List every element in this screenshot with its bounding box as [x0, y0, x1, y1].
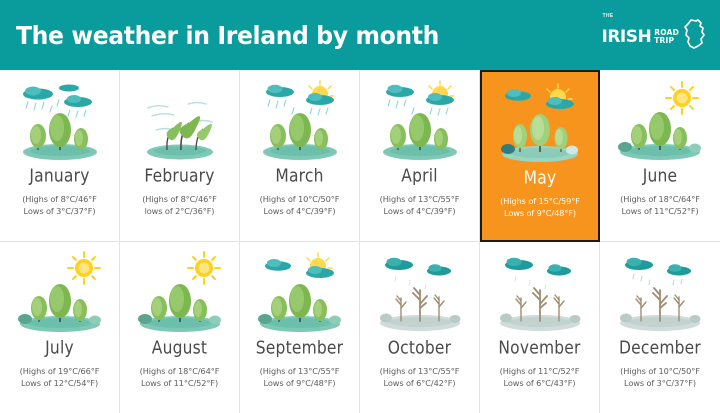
- lows-line: Lows of 4°C/39°F): [380, 205, 460, 217]
- highs-line: (Highs of 19°C/66°F: [20, 365, 100, 377]
- sun-behind-cloud-icon: [265, 253, 334, 278]
- lows-line: Lows of 3°C/37°F): [620, 377, 700, 389]
- lows-line: Lows of 3°C/37°F): [22, 205, 97, 217]
- month-cell-july[interactable]: July (Highs of 19°C/66°F Lows of 12°C/54…: [0, 242, 120, 413]
- lows-line: Lows of 12°C/54°F): [20, 377, 100, 389]
- weather-scene-windy-green-trees: [126, 78, 234, 164]
- month-label: January: [29, 166, 89, 186]
- ground-and-trees: [383, 113, 457, 160]
- weather-infographic: The weather in Ireland by month THE IRIS…: [0, 0, 720, 413]
- weather-scene-sunny-green-trees: [6, 250, 114, 336]
- highs-line: (Highs of 18°C/64°F: [620, 193, 700, 205]
- weather-scene-rainy-green-trees: [6, 78, 114, 164]
- temperature-text: (Highs of 18°C/64°F Lows of 11°C/52°F): [140, 365, 220, 389]
- weather-scene-cloudy-bare-trees-rain: [606, 250, 714, 336]
- ground-and-bare-trees: [500, 288, 581, 331]
- month-cell-february[interactable]: February (Highs of 8°C/46°F lows of 2°C/…: [120, 70, 240, 242]
- temperature-text: (Highs of 18°C/64°F Lows of 11°C/52°F): [620, 193, 700, 217]
- month-label: September: [256, 338, 343, 358]
- sun-behind-rain-cloud-icon: [266, 81, 334, 115]
- temperature-text: (Highs of 11°C/52°F Lows of 6°C/43°F): [500, 365, 580, 389]
- sun-icon: [68, 252, 100, 284]
- ground-and-bare-trees: [620, 288, 701, 331]
- month-label: July: [45, 338, 74, 358]
- months-grid: January (Highs of 8°C/46°F Lows of 3°C/3…: [0, 70, 720, 413]
- ground-and-trees: [138, 284, 221, 332]
- weather-scene-cloudy-bare-trees: [486, 250, 594, 336]
- highs-line: (Highs of 10°C/50°F: [620, 365, 700, 377]
- month-label: November: [498, 338, 580, 358]
- temperature-text: (Highs of 13°C/55°F Lows of 6°C/42°F): [380, 365, 460, 389]
- weather-scene-sunny-green-trees: [126, 250, 234, 336]
- highs-line: (Highs of 13°C/55°F: [260, 365, 340, 377]
- highs-line: (Highs of 10°C/50°F: [260, 193, 340, 205]
- weather-scene-partly-cloudy-green-trees: [486, 80, 594, 166]
- highs-line: (Highs of 18°C/64°F: [140, 365, 220, 377]
- logo-trip-text: TRIP: [654, 37, 679, 45]
- ground-and-trees: [18, 284, 101, 332]
- ground-and-bent-trees: [147, 116, 213, 159]
- lows-line: Lows of 6°C/42°F): [380, 377, 460, 389]
- month-label: March: [275, 166, 323, 186]
- sun-icon: [188, 252, 220, 284]
- ground-and-trees: [263, 113, 337, 160]
- month-cell-december[interactable]: December (Highs of 10°C/50°F Lows of 3°C…: [600, 242, 720, 413]
- temperature-text: (Highs of 8°C/46°F lows of 2°C/36°F): [142, 193, 217, 217]
- weather-scene-cloudy-bare-trees: [366, 250, 474, 336]
- ireland-map-icon: [684, 19, 706, 54]
- page-title: The weather in Ireland by month: [16, 21, 439, 50]
- lows-line: Lows of 11°C/52°F): [140, 377, 220, 389]
- temperature-text: (Highs of 13°C/55°F Lows of 9°C/48°F): [260, 365, 340, 389]
- month-label: October: [388, 338, 451, 358]
- highs-line: (Highs of 11°C/52°F: [500, 365, 580, 377]
- temperature-text: (Highs of 13°C/55°F Lows of 4°C/39°F): [380, 193, 460, 217]
- irish-road-trip-logo[interactable]: THE IRISH ROAD TRIP: [602, 15, 707, 56]
- lows-line: Lows of 4°C/39°F): [260, 205, 340, 217]
- highs-line: (Highs of 8°C/46°F: [22, 193, 97, 205]
- ground-and-trees: [258, 284, 341, 332]
- weather-scene-partly-cloudy-green-trees: [246, 250, 354, 336]
- month-cell-april[interactable]: April (Highs of 13°C/55°F Lows of 4°C/39…: [360, 70, 480, 242]
- logo-the-text: THE: [603, 13, 614, 19]
- lows-line: Lows of 9°C/48°F): [260, 377, 340, 389]
- month-cell-november[interactable]: November (Highs of 11°C/52°F Lows of 6°C…: [480, 242, 600, 413]
- ground-and-trees: [23, 113, 97, 160]
- logo-irish-text: IRISH: [602, 29, 652, 46]
- clouds-icon: [505, 257, 571, 288]
- month-label: December: [619, 338, 701, 358]
- lows-line: Lows of 9°C/48°F): [500, 207, 580, 219]
- month-cell-october[interactable]: October (Highs of 13°C/55°F Lows of 6°C/…: [360, 242, 480, 413]
- month-cell-september[interactable]: September (Highs of 13°C/55°F Lows of 9°…: [240, 242, 360, 413]
- month-cell-january[interactable]: January (Highs of 8°C/46°F Lows of 3°C/3…: [0, 70, 120, 242]
- month-label: August: [152, 338, 207, 358]
- lows-line: lows of 2°C/36°F): [142, 205, 217, 217]
- weather-scene-rain-and-sun-green-trees: [246, 78, 354, 164]
- highs-line: (Highs of 13°C/55°F: [380, 365, 460, 377]
- ground-and-trees: [618, 112, 701, 160]
- temperature-text: (Highs of 10°C/50°F Lows of 4°C/39°F): [260, 193, 340, 217]
- month-label: May: [524, 168, 557, 188]
- month-cell-may[interactable]: May (Highs of 15°C/59°F Lows of 9°C/48°F…: [480, 70, 600, 242]
- ground-and-trees: [501, 114, 578, 162]
- ground-and-bare-trees: [380, 288, 461, 331]
- month-cell-june[interactable]: June (Highs of 18°C/64°F Lows of 11°C/52…: [600, 70, 720, 242]
- weather-scene-rain-and-sun-green-trees: [366, 78, 474, 164]
- highs-line: (Highs of 15°C/59°F: [500, 195, 580, 207]
- month-label: April: [401, 166, 437, 186]
- lows-line: Lows of 6°C/43°F): [500, 377, 580, 389]
- temperature-text: (Highs of 19°C/66°F Lows of 12°C/54°F): [20, 365, 100, 389]
- temperature-text: (Highs of 10°C/50°F Lows of 3°C/37°F): [620, 365, 700, 389]
- header-bar: The weather in Ireland by month THE IRIS…: [0, 0, 720, 70]
- logo-roadtrip-stack: ROAD TRIP: [654, 29, 679, 46]
- sun-icon: [666, 82, 698, 114]
- month-label: June: [643, 166, 678, 186]
- temperature-text: (Highs of 15°C/59°F Lows of 9°C/48°F): [500, 195, 580, 219]
- rain-clouds-icon: [625, 257, 691, 284]
- highs-line: (Highs of 8°C/46°F: [142, 193, 217, 205]
- month-cell-august[interactable]: August (Highs of 18°C/64°F Lows of 11°C/…: [120, 242, 240, 413]
- month-cell-march[interactable]: March (Highs of 10°C/50°F Lows of 4°C/39…: [240, 70, 360, 242]
- sun-behind-cloud-icon: [505, 84, 574, 109]
- lows-line: Lows of 11°C/52°F): [620, 205, 700, 217]
- clouds-icon: [385, 257, 451, 288]
- sun-behind-rain-cloud-icon: [386, 81, 454, 115]
- highs-line: (Highs of 13°C/55°F: [380, 193, 460, 205]
- weather-scene-sunny-green-trees: [606, 78, 714, 164]
- rain-clouds-icon: [23, 85, 92, 118]
- month-label: February: [144, 166, 214, 186]
- temperature-text: (Highs of 8°C/46°F Lows of 3°C/37°F): [22, 193, 97, 217]
